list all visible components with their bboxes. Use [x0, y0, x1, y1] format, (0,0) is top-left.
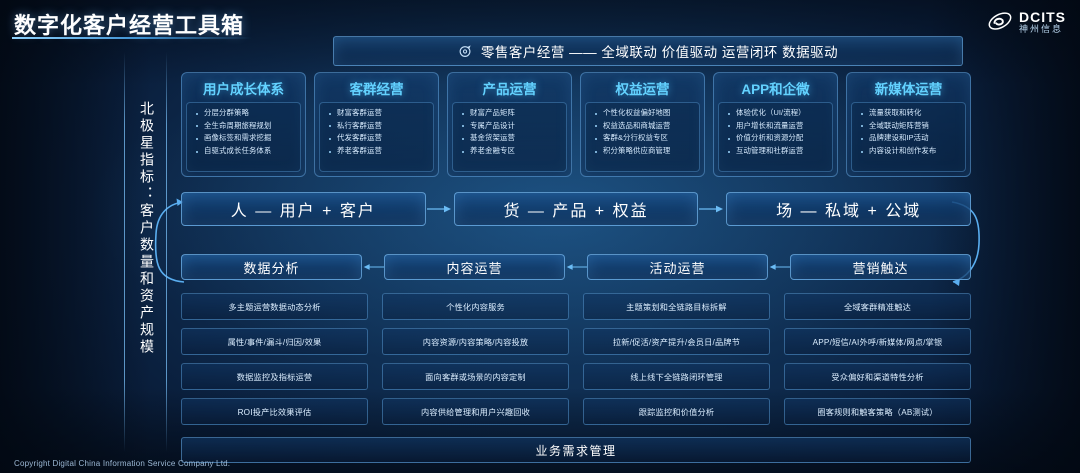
capability-card-1[interactable]: 用户成长体系 分层分群策略 全生命周期旅程规划 画像标签和需求挖掘 自驱式成长任… [181, 72, 306, 177]
capability-card-4[interactable]: 权益运营 个性化权益偏好地图 权益选品和商城运营 客群&分行权益专区 积分策略供… [580, 72, 705, 177]
arrow-left-icon [565, 262, 587, 272]
detail-cell[interactable]: APP/短信/AI外呼/新媒体/网点/掌银 [784, 328, 971, 355]
card-item: 全域联动矩阵营销 [857, 120, 962, 133]
card-body: 体验优化（UI/流程） 用户增长和流量运营 价值分析和资源分配 互动管理和社群运… [718, 102, 833, 172]
target-compass-icon [458, 44, 473, 59]
flow-box-goods[interactable]: 货 — 产品 + 权益 [454, 192, 699, 226]
flow-box-people[interactable]: 人 — 用户 + 客户 [181, 192, 426, 226]
logo-text-block: DCITS 神州信息 [1019, 10, 1066, 34]
card-item: 价值分析和资源分配 [724, 132, 829, 145]
detail-cell[interactable]: 全域客群精准触达 [784, 293, 971, 320]
capability-card-2[interactable]: 客群经营 财富客群运营 私行客群运营 代发客群运营 养老客群运营 [314, 72, 439, 177]
arrow-right-icon [698, 204, 726, 214]
card-title: 新媒体运营 [851, 78, 966, 98]
card-item: 画像标签和需求挖掘 [192, 132, 297, 145]
slide-canvas: 数字化客户经营工具箱 DCITS 神州信息 零售客户经营 —— 全域联动 价值驱… [0, 0, 1080, 473]
detail-cell[interactable]: 受众偏好和渠道特性分析 [784, 363, 971, 390]
brand-logo: DCITS 神州信息 [987, 9, 1066, 35]
detail-cell[interactable]: 面向客群或场景的内容定制 [382, 363, 569, 390]
footer-copyright: Copyright Digital China Information Serv… [14, 459, 230, 468]
capability-card-6[interactable]: 新媒体运营 流量获取和转化 全域联动矩阵营销 品牌建设和IP活动 内容设计和创作… [846, 72, 971, 177]
detail-grid: 多主题运营数据动态分析 属性/事件/漏斗/归因/效果 数据监控及指标运营 ROI… [181, 293, 971, 425]
banner-bar: 零售客户经营 —— 全域联动 价值驱动 运营闭环 数据驱动 [333, 36, 963, 66]
card-title: 用户成长体系 [186, 78, 301, 98]
banner-text: 零售客户经营 —— 全域联动 价值驱动 运营闭环 数据驱动 [481, 41, 838, 61]
flow-box-data-analysis[interactable]: 数据分析 [181, 254, 362, 280]
flow-box-content-operations[interactable]: 内容运营 [384, 254, 565, 280]
card-item: 养老金融专区 [458, 145, 563, 158]
card-item: 体验优化（UI/流程） [724, 107, 829, 120]
detail-cell[interactable]: 多主题运营数据动态分析 [181, 293, 368, 320]
flow-section: 人 — 用户 + 客户 货 — 产品 + 权益 场 — 私域 + 公域 数据分析… [181, 192, 971, 280]
title-underline [12, 37, 252, 39]
card-item: 分层分群策略 [192, 107, 297, 120]
card-item: 私行客群运营 [325, 120, 430, 133]
detail-cell[interactable]: 属性/事件/漏斗/归因/效果 [181, 328, 368, 355]
axis-line-right [166, 52, 167, 452]
detail-cell[interactable]: ROI投产比效果评估 [181, 398, 368, 425]
flow-row-people-goods-field: 人 — 用户 + 客户 货 — 产品 + 权益 场 — 私域 + 公域 [181, 192, 971, 226]
dcits-swirl-logo-icon [987, 9, 1013, 35]
card-item: 互动管理和社群运营 [724, 145, 829, 158]
card-title: 权益运营 [585, 78, 700, 98]
card-item: 积分策略供应商管理 [591, 145, 696, 158]
card-item: 用户增长和流量运营 [724, 120, 829, 133]
card-body: 流量获取和转化 全域联动矩阵营销 品牌建设和IP活动 内容设计和创作发布 [851, 102, 966, 172]
flow-box-marketing-reach[interactable]: 营销触达 [790, 254, 971, 280]
card-item: 权益选品和商城运营 [591, 120, 696, 133]
detail-cell[interactable]: 个性化内容服务 [382, 293, 569, 320]
detail-cell[interactable]: 数据监控及指标运营 [181, 363, 368, 390]
axis-line-left [124, 52, 125, 452]
capability-card-5[interactable]: APP和企微 体验优化（UI/流程） 用户增长和流量运营 价值分析和资源分配 互… [713, 72, 838, 177]
detail-column-content-operations: 个性化内容服务 内容资源/内容策略/内容投放 面向客群或场景的内容定制 内容供给… [382, 293, 569, 425]
arrow-left-icon [362, 262, 384, 272]
card-item: 基金货架运营 [458, 132, 563, 145]
card-item: 流量获取和转化 [857, 107, 962, 120]
card-item: 财富客群运营 [325, 107, 430, 120]
page-title: 数字化客户经营工具箱 [14, 8, 244, 40]
flow-box-field[interactable]: 场 — 私域 + 公域 [726, 192, 971, 226]
detail-cell[interactable]: 主题策划和全链路目标拆解 [583, 293, 770, 320]
detail-column-campaign-operations: 主题策划和全链路目标拆解 拉新/促活/资产提升/会员日/品牌节 线上线下全链路闭… [583, 293, 770, 425]
arrow-right-icon [426, 204, 454, 214]
card-item: 品牌建设和IP活动 [857, 132, 962, 145]
card-body: 个性化权益偏好地图 权益选品和商城运营 客群&分行权益专区 积分策略供应商管理 [585, 102, 700, 172]
card-item: 个性化权益偏好地图 [591, 107, 696, 120]
detail-column-marketing-reach: 全域客群精准触达 APP/短信/AI外呼/新媒体/网点/掌银 受众偏好和渠道特性… [784, 293, 971, 425]
detail-cell[interactable]: 线上线下全链路闭环管理 [583, 363, 770, 390]
logo-en: DCITS [1019, 10, 1066, 25]
north-star-axis-label: 北极星指标：客户数量和资产规模 [131, 101, 157, 431]
card-body: 财富产品矩阵 专属产品设计 基金货架运营 养老金融专区 [452, 102, 567, 172]
card-item: 内容设计和创作发布 [857, 145, 962, 158]
card-title: 产品运营 [452, 78, 567, 98]
detail-column-data-analysis: 多主题运营数据动态分析 属性/事件/漏斗/归因/效果 数据监控及指标运营 ROI… [181, 293, 368, 425]
card-item: 自驱式成长任务体系 [192, 145, 297, 158]
capability-card-3[interactable]: 产品运营 财富产品矩阵 专属产品设计 基金货架运营 养老金融专区 [447, 72, 572, 177]
detail-cell[interactable]: 拉新/促活/资产提升/会员日/品牌节 [583, 328, 770, 355]
detail-cell[interactable]: 圈客规则和触客策略（AB测试） [784, 398, 971, 425]
card-item: 全生命周期旅程规划 [192, 120, 297, 133]
card-item: 财富产品矩阵 [458, 107, 563, 120]
logo-cn: 神州信息 [1019, 25, 1066, 34]
capability-cards: 用户成长体系 分层分群策略 全生命周期旅程规划 画像标签和需求挖掘 自驱式成长任… [181, 72, 971, 177]
arrow-left-icon [768, 262, 790, 272]
card-title: 客群经营 [319, 78, 434, 98]
card-item: 客群&分行权益专区 [591, 132, 696, 145]
flow-box-campaign-operations[interactable]: 活动运营 [587, 254, 768, 280]
detail-cell[interactable]: 跟踪监控和价值分析 [583, 398, 770, 425]
card-item: 专属产品设计 [458, 120, 563, 133]
detail-cell[interactable]: 内容资源/内容策略/内容投放 [382, 328, 569, 355]
business-requirement-bar[interactable]: 业务需求管理 [181, 437, 971, 463]
detail-cell[interactable]: 内容供给管理和用户兴趣回收 [382, 398, 569, 425]
card-item: 代发客群运营 [325, 132, 430, 145]
card-title: APP和企微 [718, 78, 833, 98]
card-body: 财富客群运营 私行客群运营 代发客群运营 养老客群运营 [319, 102, 434, 172]
card-item: 养老客群运营 [325, 145, 430, 158]
card-body: 分层分群策略 全生命周期旅程规划 画像标签和需求挖掘 自驱式成长任务体系 [186, 102, 301, 172]
flow-row-operations: 数据分析 内容运营 活动运营 营销触达 [181, 254, 971, 280]
